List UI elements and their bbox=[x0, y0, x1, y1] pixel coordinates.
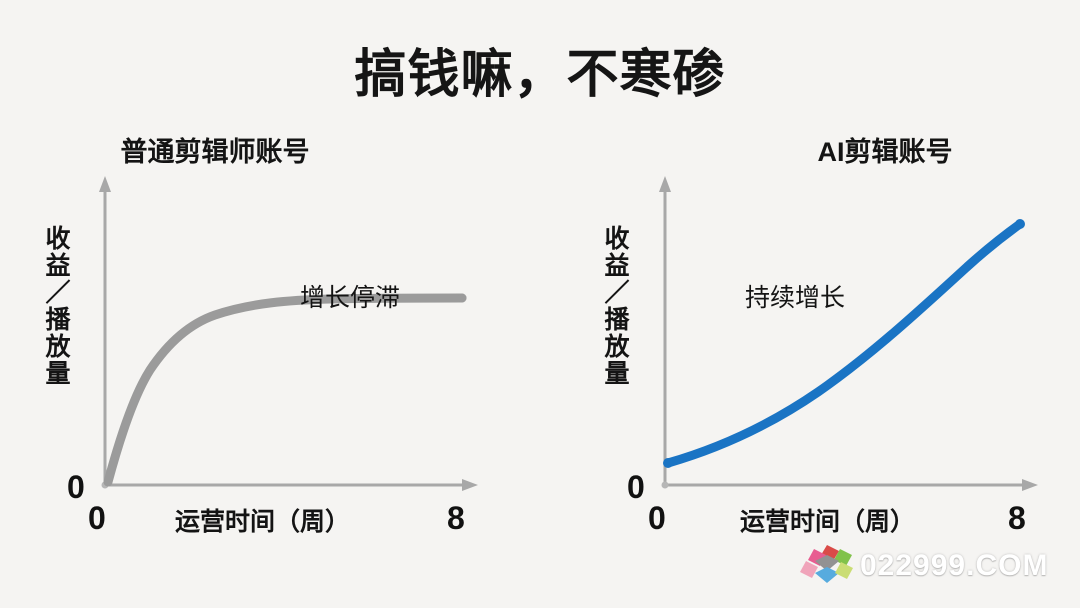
curve-start-marker-right bbox=[663, 458, 673, 468]
y-axis-arrow-icon bbox=[659, 176, 671, 192]
x-axis-arrow-icon bbox=[462, 479, 478, 491]
annotation-growth-stagnation: 增长停滞 bbox=[300, 278, 400, 314]
chart-panel-ai-editor: AI剪辑账号 收益／播放量 运营时间（周） 0 0 8 持续增长 bbox=[580, 130, 1080, 550]
y-axis-label-right: 收益／播放量 bbox=[602, 225, 627, 387]
origin-marker bbox=[662, 482, 669, 489]
y-axis-origin-tick-right: 0 bbox=[627, 471, 645, 503]
x-axis-max-tick-right: 8 bbox=[1008, 502, 1026, 534]
x-axis-max-tick-left: 8 bbox=[447, 502, 465, 534]
slide-canvas: 搞钱嘛，不寒碜 普通剪辑师账号 收益／播放量 运营时间（周） 0 0 8 增长停… bbox=[0, 0, 1080, 608]
curve-end-marker-left bbox=[458, 294, 467, 303]
curve-end-marker-right bbox=[1015, 219, 1025, 229]
x-axis-label-left: 运营时间（周） bbox=[175, 502, 350, 538]
y-axis-origin-tick-left: 0 bbox=[67, 471, 85, 503]
pinwheel-logo-icon bbox=[800, 541, 854, 591]
y-axis-label-left: 收益／播放量 bbox=[43, 225, 68, 387]
x-axis-arrow-icon bbox=[1022, 479, 1038, 491]
x-axis-label-right: 运营时间（周） bbox=[740, 502, 915, 538]
chart-panel-ordinary-editor: 普通剪辑师账号 收益／播放量 运营时间（周） 0 0 8 增长停滞 bbox=[10, 130, 530, 550]
watermark-text: 022999.COM bbox=[860, 549, 1048, 583]
curve-ai-editor bbox=[668, 224, 1020, 463]
watermark: 022999.COM bbox=[800, 536, 1060, 596]
chart-plot-left bbox=[10, 130, 530, 550]
y-axis-arrow-icon bbox=[99, 176, 111, 192]
x-axis-origin-tick-left: 0 bbox=[88, 502, 106, 534]
annotation-continuous-growth: 持续增长 bbox=[745, 278, 845, 314]
curve-ordinary-editor bbox=[108, 298, 462, 482]
x-axis-origin-tick-right: 0 bbox=[648, 502, 666, 534]
page-title: 搞钱嘛，不寒碜 bbox=[0, 32, 1080, 107]
chart-plot-right bbox=[580, 130, 1080, 550]
